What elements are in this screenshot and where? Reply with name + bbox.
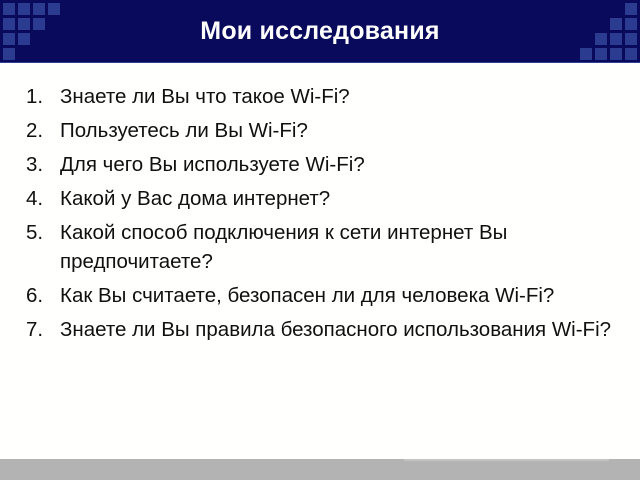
list-item-number: 2. — [26, 116, 60, 145]
header-underline — [0, 62, 640, 63]
list-item-label: Для чего Вы используете Wi-Fi? — [60, 150, 612, 179]
list-item-number: 7. — [26, 315, 60, 344]
list-item-number: 6. — [26, 281, 60, 310]
list-item: 2.Пользуетесь ли Вы Wi-Fi? — [26, 116, 612, 145]
list-item-label: Пользуетесь ли Вы Wi-Fi? — [60, 116, 612, 145]
page-title: Мои исследования — [0, 0, 640, 62]
list-item-label: Знаете ли Вы что такое Wi-Fi? — [60, 82, 612, 111]
list-item-number: 3. — [26, 150, 60, 179]
list-item: 5.Какой способ подключения к сети интерн… — [26, 218, 612, 276]
list-item: 4.Какой у Вас дома интернет? — [26, 184, 612, 213]
list-item: 7.Знаете ли Вы правила безопасного испол… — [26, 315, 612, 344]
footer-highlight — [404, 459, 609, 461]
list-item-label: Какой способ подключения к сети интернет… — [60, 218, 612, 276]
presentation-slide: Мои исследования 1.Знаете ли Вы что тако… — [0, 0, 640, 480]
list-item: 1.Знаете ли Вы что такое Wi-Fi? — [26, 82, 612, 111]
list-item-number: 1. — [26, 82, 60, 111]
list-item: 3.Для чего Вы используете Wi-Fi? — [26, 150, 612, 179]
list-item-label: Как Вы считаете, безопасен ли для челове… — [60, 281, 612, 310]
list-item: 6.Как Вы считаете, безопасен ли для чело… — [26, 281, 612, 310]
list-item-number: 5. — [26, 218, 60, 247]
list-item-label: Какой у Вас дома интернет? — [60, 184, 612, 213]
footer-bar — [0, 459, 640, 480]
question-list: 1.Знаете ли Вы что такое Wi-Fi?2.Пользуе… — [26, 82, 612, 349]
list-item-number: 4. — [26, 184, 60, 213]
list-item-label: Знаете ли Вы правила безопасного использ… — [60, 315, 612, 344]
